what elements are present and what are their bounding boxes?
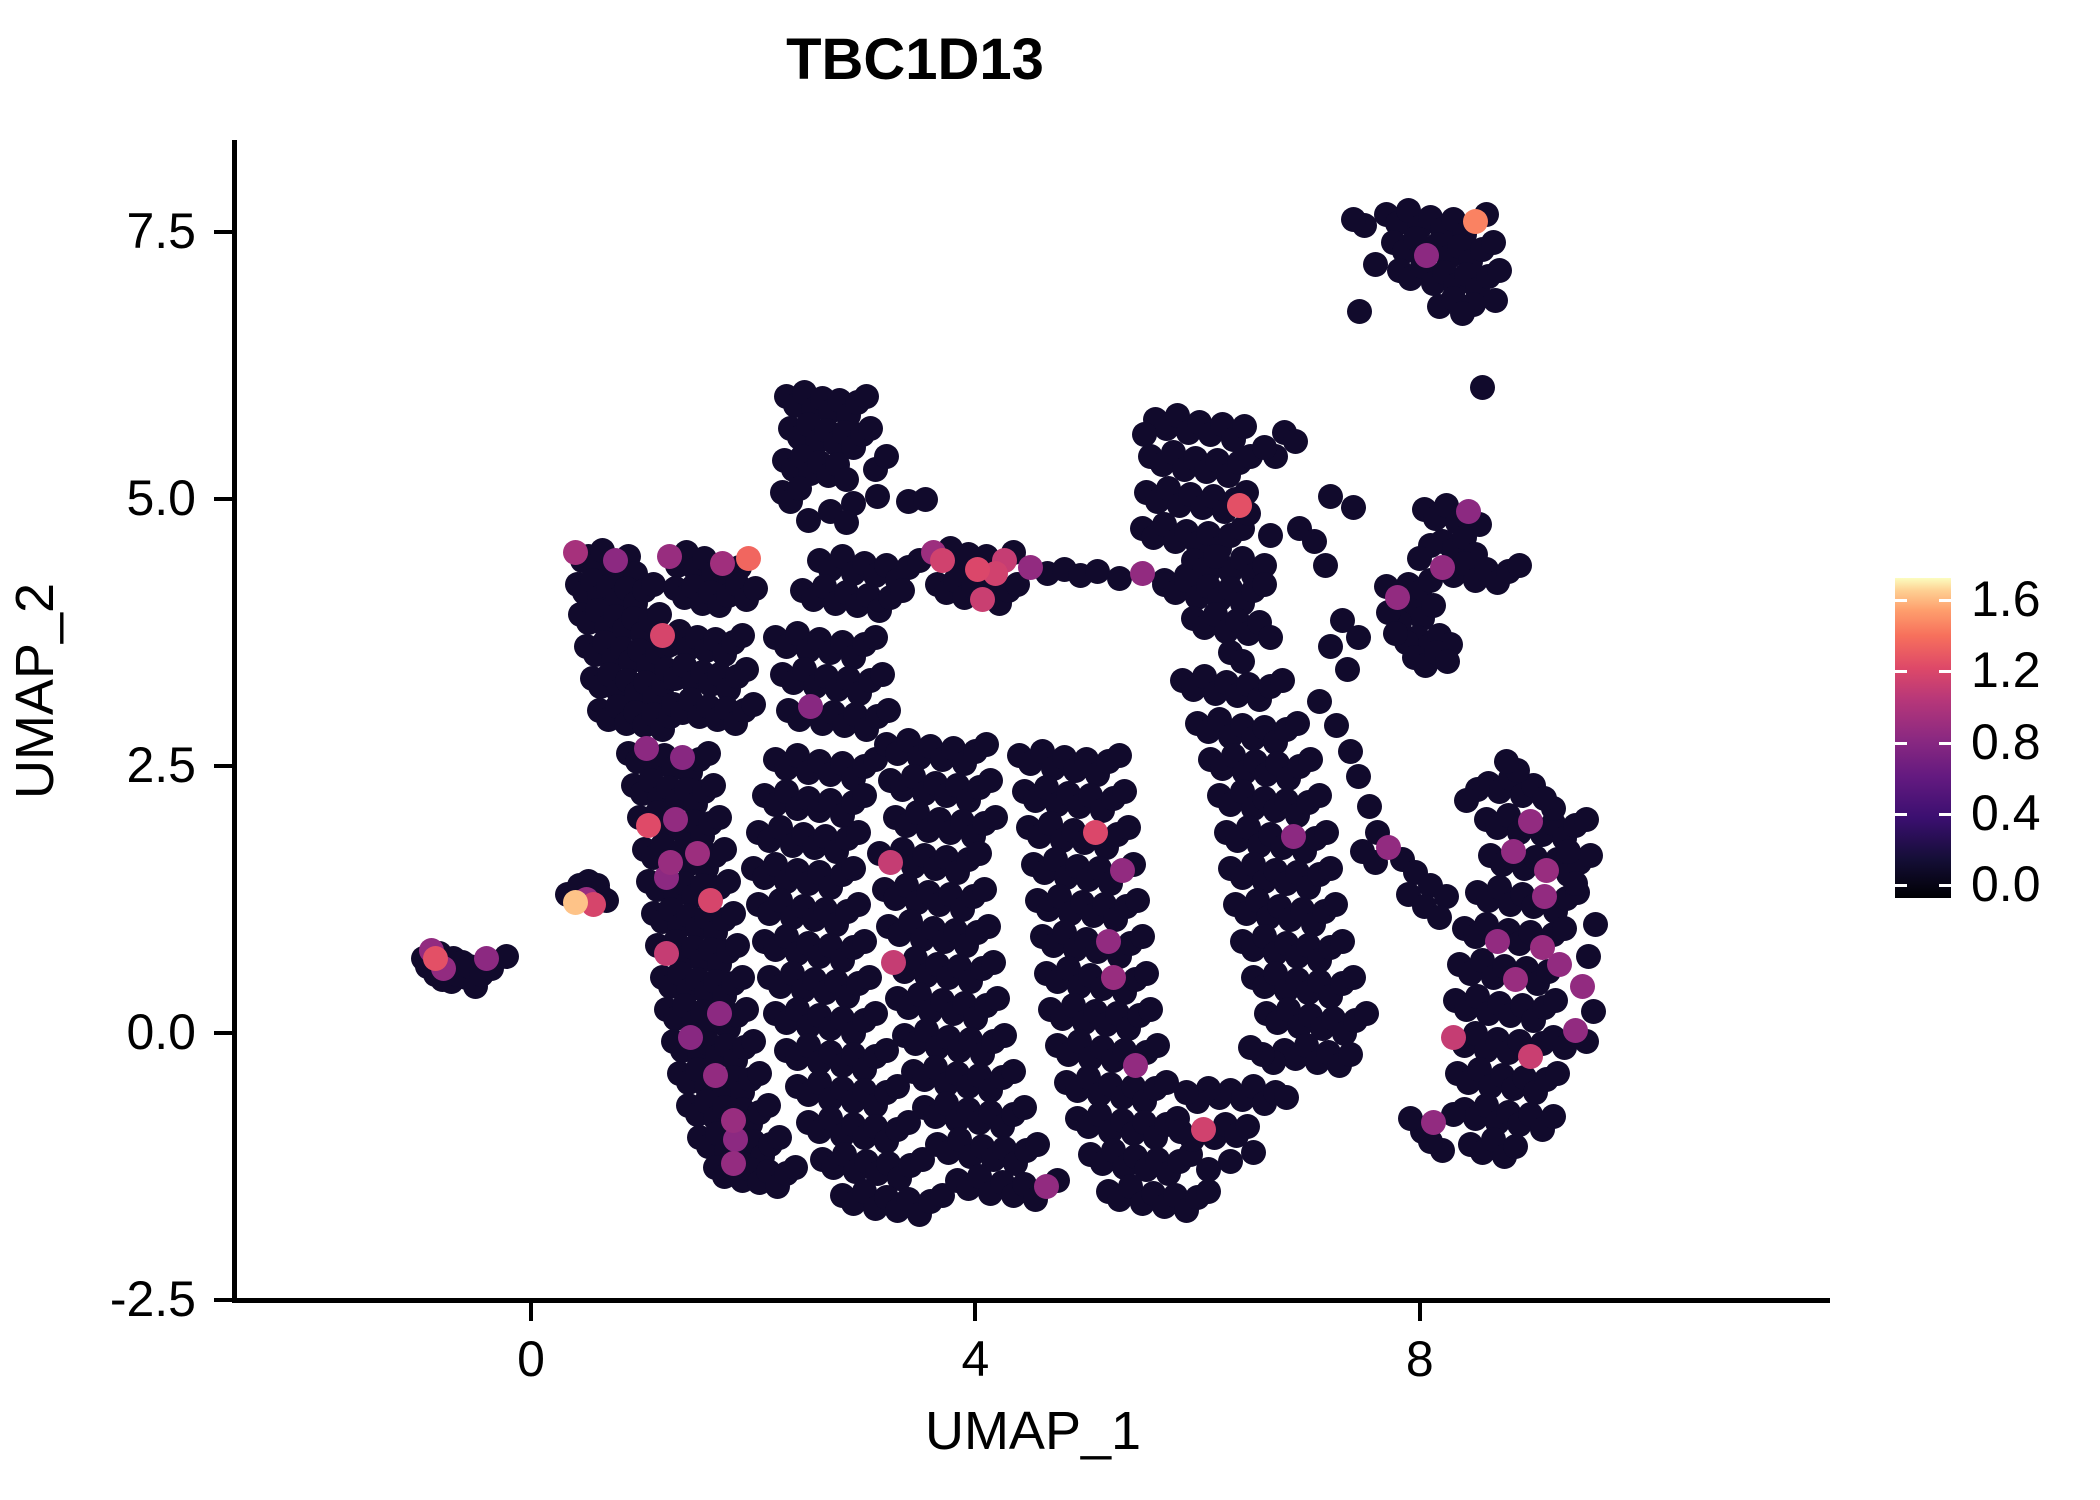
- scatter-point: [834, 510, 859, 535]
- scatter-point: [1258, 625, 1283, 650]
- x-tick-label: 0: [471, 1330, 591, 1388]
- legend-tick-mark: [1895, 599, 1907, 602]
- scatter-point: [858, 416, 883, 441]
- scatter-point: [1034, 1174, 1059, 1199]
- scatter-point: [1483, 288, 1508, 313]
- scatter-point: [1501, 839, 1526, 864]
- scatter-point: [992, 1023, 1017, 1048]
- scatter-point: [798, 694, 823, 719]
- x-tick-mark: [973, 1303, 977, 1321]
- scatter-point: [1083, 820, 1108, 845]
- scatter-point: [1338, 1042, 1363, 1067]
- scatter-point: [756, 1093, 781, 1118]
- scatter-point: [854, 384, 879, 409]
- scatter-point: [721, 1108, 746, 1133]
- scatter-point: [1541, 1104, 1566, 1129]
- scatter-point: [1107, 566, 1132, 591]
- scatter-point: [1341, 965, 1366, 990]
- scatter-point: [1563, 871, 1588, 896]
- legend-tick-mark: [1895, 813, 1907, 816]
- scatter-point: [978, 768, 1003, 793]
- scatter-point: [1252, 572, 1277, 597]
- scatter-point: [881, 950, 906, 975]
- scatter-point: [1463, 209, 1488, 234]
- legend-tick-mark: [1895, 670, 1907, 673]
- scatter-point: [890, 578, 915, 603]
- scatter-point: [1096, 929, 1121, 954]
- scatter-point: [870, 662, 895, 687]
- scatter-point: [1485, 929, 1510, 954]
- scatter-point: [852, 783, 877, 808]
- scatter-point: [1125, 888, 1150, 913]
- scatter-point: [1454, 788, 1479, 813]
- scatter-point: [1196, 1157, 1221, 1182]
- scatter-point: [1363, 252, 1388, 277]
- scatter-point: [1430, 555, 1455, 580]
- x-tick-label: 4: [915, 1330, 1035, 1388]
- scatter-point: [981, 950, 1006, 975]
- scatter-point: [1470, 375, 1495, 400]
- scatter-point: [834, 467, 859, 492]
- scatter-point: [1534, 858, 1559, 883]
- scatter-point: [1556, 839, 1581, 864]
- scatter-point: [716, 869, 741, 894]
- scatter-point: [1235, 1114, 1260, 1139]
- x-tick-mark: [529, 1303, 533, 1321]
- scatter-point: [1543, 988, 1568, 1013]
- scatter-point: [734, 997, 759, 1022]
- scatter-point: [1112, 779, 1137, 804]
- scatter-point: [730, 623, 755, 648]
- scatter-point: [841, 856, 866, 881]
- scatter-point: [725, 933, 750, 958]
- scatter-point: [712, 837, 737, 862]
- scatter-point: [1350, 839, 1375, 864]
- x-tick-label: 8: [1360, 1330, 1480, 1388]
- scatter-point: [1357, 794, 1382, 819]
- scatter-point: [965, 557, 990, 582]
- scatter-point: [1123, 1053, 1148, 1078]
- scatter-point: [874, 444, 899, 469]
- scatter-point: [974, 732, 999, 757]
- scatter-point: [1441, 1025, 1466, 1050]
- scatter-point: [970, 587, 995, 612]
- scatter-point: [1230, 649, 1255, 674]
- scatter-point: [1347, 299, 1372, 324]
- scatter-plot-panel: [236, 142, 1830, 1300]
- scatter-point: [1376, 835, 1401, 860]
- scatter-point: [985, 986, 1010, 1011]
- scatter-point: [1314, 820, 1339, 845]
- scatter-point: [658, 850, 683, 875]
- scatter-point: [1570, 974, 1595, 999]
- scatter-point: [1421, 1110, 1446, 1135]
- scatter-point: [1450, 301, 1475, 326]
- scatter-point: [1487, 258, 1512, 283]
- scatter-point: [1545, 1061, 1570, 1086]
- legend-tick-mark: [1939, 670, 1951, 673]
- scatter-point: [1335, 657, 1360, 682]
- scatter-point: [1427, 905, 1452, 930]
- scatter-point: [1346, 764, 1371, 789]
- scatter-point: [1107, 743, 1132, 768]
- scatter-point: [857, 965, 882, 990]
- scatter-point: [650, 623, 675, 648]
- scatter-point: [1318, 856, 1343, 881]
- scatter-point: [1583, 912, 1608, 937]
- scatter-point: [563, 890, 588, 915]
- y-tick-label: -2.5: [0, 1270, 196, 1328]
- legend-tick-label: 1.2: [1971, 641, 2041, 699]
- scatter-point: [1435, 649, 1460, 674]
- y-tick-mark: [214, 1031, 232, 1035]
- scatter-point: [703, 1063, 728, 1088]
- scatter-point: [1285, 711, 1310, 736]
- scatter-point: [1196, 1179, 1221, 1204]
- scatter-point: [1576, 944, 1601, 969]
- scatter-point: [876, 698, 901, 723]
- scatter-point: [1507, 553, 1532, 578]
- legend-tick-mark: [1939, 813, 1951, 816]
- scatter-point: [1421, 593, 1446, 618]
- scatter-point: [1581, 999, 1606, 1024]
- scatter-point: [865, 484, 890, 509]
- scatter-point: [1025, 1132, 1050, 1157]
- scatter-point: [972, 877, 997, 902]
- scatter-point: [743, 576, 768, 601]
- scatter-point: [1341, 495, 1366, 520]
- scatter-point: [1574, 807, 1599, 832]
- scatter-point: [1385, 585, 1410, 610]
- scatter-point: [913, 487, 938, 512]
- scatter-point: [1138, 997, 1163, 1022]
- scatter-point: [1270, 668, 1295, 693]
- legend-tick-label: 0.0: [1971, 855, 2041, 913]
- scatter-point: [1110, 858, 1135, 883]
- scatter-point: [741, 692, 766, 717]
- scatter-point: [1281, 824, 1306, 849]
- legend-tick-label: 1.6: [1971, 570, 2041, 628]
- y-tick-mark: [214, 230, 232, 234]
- scatter-point: [1302, 529, 1327, 554]
- scatter-point: [734, 657, 759, 682]
- scatter-point: [701, 773, 726, 798]
- x-axis-label: UMAP_1: [236, 1400, 1830, 1462]
- scatter-point: [641, 572, 666, 597]
- scatter-point: [747, 1061, 772, 1086]
- scatter-point: [736, 546, 761, 571]
- umap-feature-plot: TBC1D13 -2.50.02.55.07.5 048 UMAP_1 UMAP…: [0, 0, 2100, 1500]
- scatter-point: [1481, 230, 1506, 255]
- scatter-point: [1354, 1001, 1379, 1026]
- scatter-point: [1274, 1085, 1299, 1110]
- scatter-point: [1324, 713, 1349, 738]
- scatter-point: [423, 946, 448, 971]
- scatter-point: [967, 841, 992, 866]
- scatter-point: [787, 476, 812, 501]
- scatter-point: [863, 1001, 888, 1026]
- scatter-point: [696, 741, 721, 766]
- scatter-point: [1338, 739, 1363, 764]
- scatter-point: [863, 625, 888, 650]
- scatter-point: [1012, 1095, 1037, 1120]
- scatter-point: [930, 548, 955, 573]
- scatter-point: [1298, 747, 1323, 772]
- scatter-point: [1258, 523, 1283, 548]
- scatter-point: [670, 745, 695, 770]
- scatter-point: [1383, 621, 1408, 646]
- scatter-point: [878, 850, 903, 875]
- scatter-point: [1578, 843, 1603, 868]
- scatter-point: [663, 807, 688, 832]
- scatter-point: [563, 540, 588, 565]
- scatter-point: [852, 929, 877, 954]
- scatter-point: [846, 892, 871, 917]
- scatter-point: [1323, 892, 1348, 917]
- scatter-point: [730, 965, 755, 990]
- scatter-point: [1330, 929, 1355, 954]
- scatter-point: [707, 805, 732, 830]
- scatter-point: [1341, 207, 1366, 232]
- scatter-point: [1307, 783, 1332, 808]
- scatter-point: [721, 1151, 746, 1176]
- legend-tick-mark: [1895, 742, 1907, 745]
- scatter-point: [1313, 553, 1338, 578]
- scatter-point: [783, 1155, 808, 1180]
- scatter-point: [1252, 435, 1277, 460]
- scatter-point: [1191, 1117, 1216, 1142]
- scatter-point: [1503, 967, 1528, 992]
- scatter-point: [1532, 884, 1557, 909]
- scatter-point: [767, 1125, 792, 1150]
- legend-tick-mark: [1939, 884, 1951, 887]
- legend-tick-mark: [1939, 742, 1951, 745]
- scatter-point: [1318, 484, 1343, 509]
- scatter-point: [1241, 1140, 1266, 1165]
- page-title: TBC1D13: [0, 26, 1830, 93]
- scatter-point: [1530, 935, 1555, 960]
- legend-tick-mark: [1939, 599, 1951, 602]
- scatter-point: [710, 551, 735, 576]
- x-tick-mark: [1418, 1303, 1422, 1321]
- scatter-point: [1145, 1033, 1170, 1058]
- scatter-point: [741, 1029, 766, 1054]
- scatter-point: [976, 914, 1001, 939]
- scatter-point: [1414, 243, 1439, 268]
- scatter-point: [474, 946, 499, 971]
- y-tick-mark: [214, 764, 232, 768]
- color-legend: 0.00.40.81.21.6: [1895, 578, 1951, 898]
- scatter-point: [1552, 916, 1577, 941]
- scatter-point: [1232, 414, 1257, 439]
- scatter-point: [1203, 544, 1228, 569]
- y-tick-mark: [214, 497, 232, 501]
- scatter-point: [1532, 786, 1557, 811]
- scatter-point: [1130, 924, 1155, 949]
- y-axis-label: UMAP_2: [4, 391, 66, 991]
- legend-tick-mark: [1895, 884, 1907, 887]
- legend-tick-label: 0.4: [1971, 784, 2041, 842]
- scatter-point: [1503, 1134, 1528, 1159]
- y-tick-mark: [214, 1298, 232, 1302]
- scatter-point: [1518, 1044, 1543, 1069]
- scatter-point: [983, 805, 1008, 830]
- colorbar-gradient: [1895, 578, 1951, 898]
- scatter-point: [1218, 1149, 1243, 1174]
- scatter-point: [1307, 689, 1332, 714]
- scatter-point: [721, 901, 746, 926]
- y-tick-label: 0.0: [0, 1003, 196, 1061]
- scatter-point: [1101, 965, 1126, 990]
- scatter-point: [846, 820, 871, 845]
- legend-tick-label: 0.8: [1971, 713, 2041, 771]
- scatter-point: [1001, 1059, 1026, 1084]
- scatter-point: [1494, 749, 1519, 774]
- scatter-point: [1130, 561, 1155, 586]
- scatter-point: [1346, 625, 1371, 650]
- scatter-point: [1134, 961, 1159, 986]
- scatter-point: [1116, 815, 1141, 840]
- y-tick-label: 7.5: [0, 202, 196, 260]
- scatter-point: [1318, 634, 1343, 659]
